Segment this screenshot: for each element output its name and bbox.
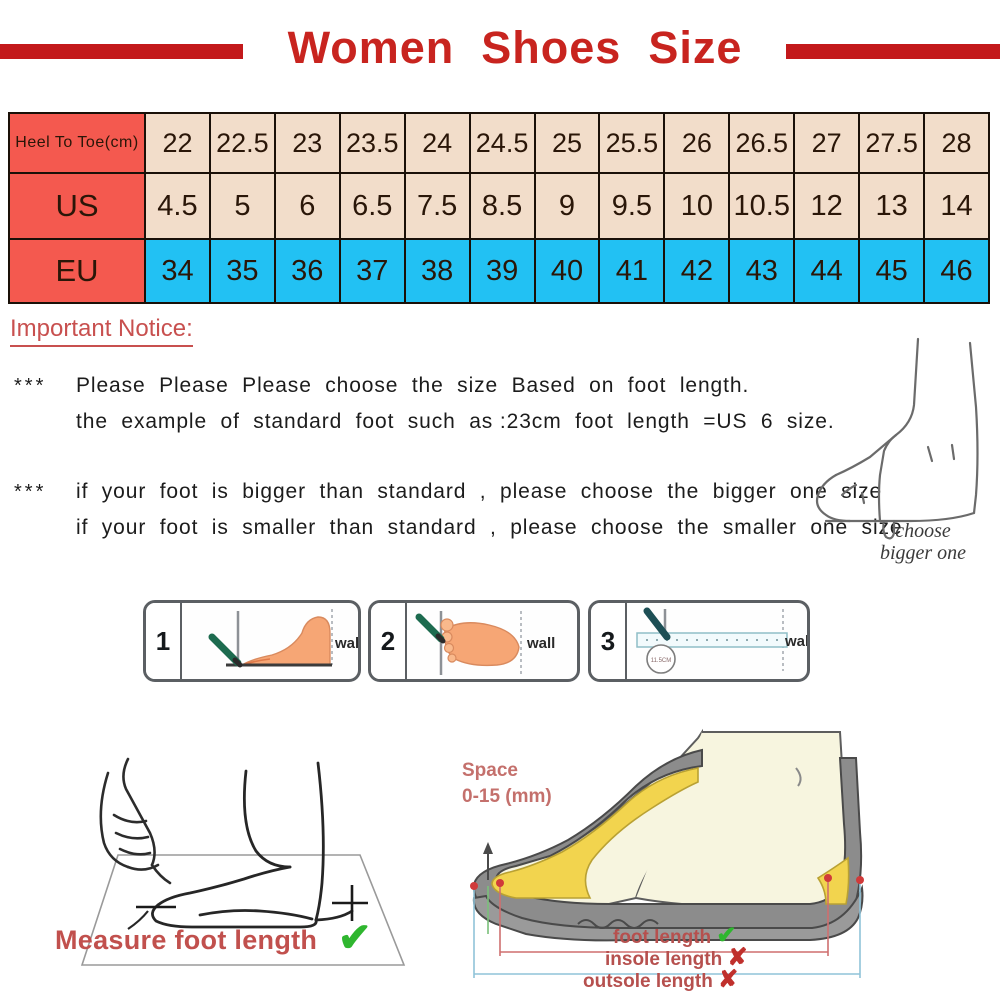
page-header: Women Shoes Size xyxy=(0,22,1000,84)
cell-eu: 38 xyxy=(405,239,470,303)
page-title: Women Shoes Size xyxy=(250,18,780,78)
cell-cm: 28 xyxy=(924,113,989,173)
table-row-eu: EU 34 35 36 37 38 39 40 41 42 43 44 45 4… xyxy=(9,239,989,303)
step-1-illustration: wall xyxy=(180,603,358,679)
notice-line: if your foot is smaller than standard , … xyxy=(76,516,903,539)
notice-bullet-2: ***if your foot is bigger than standard … xyxy=(14,474,903,546)
cell-cm: 26 xyxy=(664,113,729,173)
wall-label: wall xyxy=(527,635,555,652)
cell-eu: 36 xyxy=(275,239,340,303)
row-header-us: US xyxy=(9,173,145,239)
bullet-stars: *** xyxy=(14,474,76,510)
cell-us: 10.5 xyxy=(729,173,794,239)
cell-cm: 25.5 xyxy=(599,113,664,173)
cell-us: 10 xyxy=(664,173,729,239)
cell-us: 7.5 xyxy=(405,173,470,239)
cell-us: 9 xyxy=(535,173,600,239)
foot-sketch-caption: choose bigger one xyxy=(848,520,998,564)
notice-line: the example of standard foot such as :23… xyxy=(76,410,835,433)
cell-cm: 24 xyxy=(405,113,470,173)
svg-text:11.5CM: 11.5CM xyxy=(651,658,672,664)
cell-us: 9.5 xyxy=(599,173,664,239)
table-row-heel-to-toe: Heel To Toe(cm) 22 22.5 23 23.5 24 24.5 … xyxy=(9,113,989,173)
cell-eu: 41 xyxy=(599,239,664,303)
cell-us: 5 xyxy=(210,173,275,239)
cross-icon: ✘ xyxy=(718,966,738,993)
cell-cm: 22.5 xyxy=(210,113,275,173)
cell-eu: 44 xyxy=(794,239,859,303)
cell-cm: 24.5 xyxy=(470,113,535,173)
cell-eu: 46 xyxy=(924,239,989,303)
cell-cm: 23 xyxy=(275,113,340,173)
title-rule-left xyxy=(0,44,243,59)
bullet-stars: *** xyxy=(14,368,76,404)
cell-us: 12 xyxy=(794,173,859,239)
step-3-illustration: 11.5CM wall xyxy=(625,603,807,679)
title-rule-right xyxy=(786,44,1000,59)
check-icon: ✔ xyxy=(338,915,372,961)
step-2-illustration: wall xyxy=(405,603,577,679)
outsole-length-label: outsole length ✘ xyxy=(583,965,738,994)
wall-label: wall xyxy=(785,633,810,650)
measure-foot-length-caption: Measure foot length xyxy=(55,925,317,956)
cell-eu: 40 xyxy=(535,239,600,303)
cell-cm: 27.5 xyxy=(859,113,924,173)
cell-eu: 45 xyxy=(859,239,924,303)
cell-cm: 26.5 xyxy=(729,113,794,173)
step-number: 2 xyxy=(371,603,407,679)
cell-us: 8.5 xyxy=(470,173,535,239)
measure-step-1: 1 wall xyxy=(143,600,361,682)
cell-eu: 34 xyxy=(145,239,210,303)
cell-eu: 39 xyxy=(470,239,535,303)
cell-eu: 35 xyxy=(210,239,275,303)
measure-step-3: 3 11.5CM wall xyxy=(588,600,810,682)
cell-us: 6 xyxy=(275,173,340,239)
important-notice-heading: Important Notice: xyxy=(10,315,193,347)
size-conversion-table: Heel To Toe(cm) 22 22.5 23 23.5 24 24.5 … xyxy=(8,112,990,304)
cell-cm: 22 xyxy=(145,113,210,173)
cell-cm: 23.5 xyxy=(340,113,405,173)
step-number: 1 xyxy=(146,603,182,679)
table-row-us: US 4.5 5 6 6.5 7.5 8.5 9 9.5 10 10.5 12 … xyxy=(9,173,989,239)
label-text: outsole length xyxy=(583,971,713,992)
step-number: 3 xyxy=(591,603,627,679)
measure-step-2: 2 wall xyxy=(368,600,580,682)
notice-line: Please Please Please choose the size Bas… xyxy=(76,374,749,397)
cell-eu: 37 xyxy=(340,239,405,303)
notice-bullet-1: ***Please Please Please choose the size … xyxy=(14,368,835,440)
notice-line: if your foot is bigger than standard , p… xyxy=(76,480,882,503)
row-header-heel-to-toe: Heel To Toe(cm) xyxy=(9,113,145,173)
cell-us: 14 xyxy=(924,173,989,239)
wall-label: wall xyxy=(335,635,361,652)
cell-eu: 43 xyxy=(729,239,794,303)
cell-cm: 27 xyxy=(794,113,859,173)
cell-eu: 42 xyxy=(664,239,729,303)
cell-us: 4.5 xyxy=(145,173,210,239)
cell-cm: 25 xyxy=(535,113,600,173)
cell-us: 13 xyxy=(859,173,924,239)
row-header-eu: EU xyxy=(9,239,145,303)
space-measurement-label: Space 0-15 (mm) xyxy=(462,758,552,810)
foot-side-sketch-icon xyxy=(800,335,1000,550)
cell-us: 6.5 xyxy=(340,173,405,239)
